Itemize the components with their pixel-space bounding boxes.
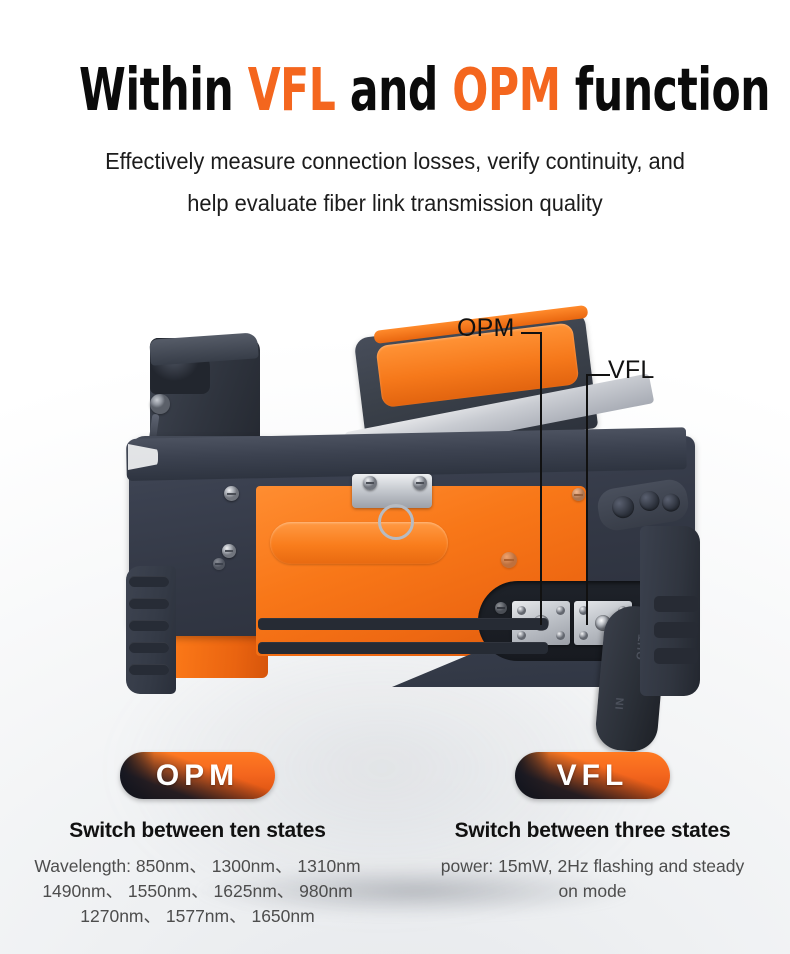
title-part-2: and [335, 55, 452, 124]
badge-opm: OPM [120, 752, 275, 799]
product-key-2 [638, 490, 661, 513]
product-endcap-fin [654, 622, 698, 638]
product-vent-slot [258, 642, 548, 654]
product-grip-fin [129, 576, 169, 587]
badge-opm-label: OPM [156, 759, 239, 792]
product-grip-fin [129, 620, 169, 631]
card-opm-body: Wavelength: 850nm、 1300nm、 1310nm 1490nm… [0, 854, 395, 929]
product-endcap-fin [654, 596, 698, 612]
card-opm-body-line-2: 1490nm、 1550nm、 1625nm、 980nm [0, 879, 395, 904]
product-key-3 [661, 492, 682, 513]
page-subtitle: Effectively measure connection losses, v… [28, 140, 763, 224]
callout-line-opm-vertical [540, 332, 542, 625]
card-vfl-heading: Switch between three states [395, 819, 790, 843]
product-screw [224, 486, 239, 501]
card-vfl-body-line-2: on mode [395, 879, 790, 904]
product-screw [363, 476, 377, 490]
card-opm-body-line-1: Wavelength: 850nm、 1300nm、 1310nm [0, 854, 395, 879]
badge-vfl: VFL [515, 752, 670, 799]
title-part-0: Within [79, 55, 248, 124]
product-left-grip [126, 566, 176, 694]
adapter-screw [579, 631, 588, 640]
product-grip-fin [129, 598, 169, 609]
product-screw [572, 488, 585, 501]
product-end-cap [640, 526, 700, 696]
callout-label-opm: OPM [457, 314, 515, 343]
promo-banner: Within VFL and OPM function Effectively … [0, 0, 790, 954]
title-part-3: OPM [452, 55, 560, 124]
product-screw [501, 552, 517, 568]
product-grip-fin [129, 664, 169, 675]
subtitle-line-1: Effectively measure connection losses, v… [28, 140, 763, 182]
product-latch-ring [378, 504, 414, 540]
callout-label-vfl: VFL [608, 356, 654, 385]
title-part-4: function [561, 55, 771, 124]
product-endcap-fin [654, 648, 698, 664]
page-title: Within VFL and OPM function [79, 60, 711, 120]
product-screw [413, 476, 427, 490]
feature-card-opm: OPM Switch between ten states Wavelength… [0, 752, 395, 929]
adapter-screw [517, 631, 526, 640]
product-vent-slot [258, 618, 548, 630]
product-screw [495, 602, 507, 614]
callout-line-vfl-vertical [586, 374, 588, 625]
feature-card-vfl: VFL Switch between three states power: 1… [395, 752, 790, 904]
product-key-1 [611, 495, 636, 520]
adapter-screw [556, 631, 565, 640]
card-opm-body-line-3: 1270nm、 1577nm、 1650nm [0, 904, 395, 929]
product-screw [222, 544, 236, 558]
flap-label-in: IN [614, 696, 627, 710]
feature-cards: OPM Switch between ten states Wavelength… [0, 752, 790, 952]
product-orange-grip-pad [270, 522, 448, 564]
product-screw [213, 558, 225, 570]
card-vfl-body-line-1: power: 15mW, 2Hz flashing and steady [395, 854, 790, 879]
callout-line-vfl-horizontal [586, 374, 610, 376]
subtitle-line-2: help evaluate fiber link transmission qu… [28, 182, 763, 224]
card-vfl-body: power: 15mW, 2Hz flashing and steady on … [395, 854, 790, 904]
product-grip-fin [129, 642, 169, 653]
callout-line-opm-horizontal [521, 332, 542, 334]
hero-section: Within VFL and OPM function Effectively … [0, 0, 790, 240]
product-head-disc [150, 394, 170, 414]
title-part-1: VFL [248, 55, 336, 124]
product-image: OUT IN OPM VFL [0, 236, 790, 736]
card-opm-heading: Switch between ten states [0, 819, 395, 843]
adapter-screw [556, 606, 565, 615]
badge-vfl-label: VFL [557, 759, 629, 792]
adapter-screw [517, 606, 526, 615]
